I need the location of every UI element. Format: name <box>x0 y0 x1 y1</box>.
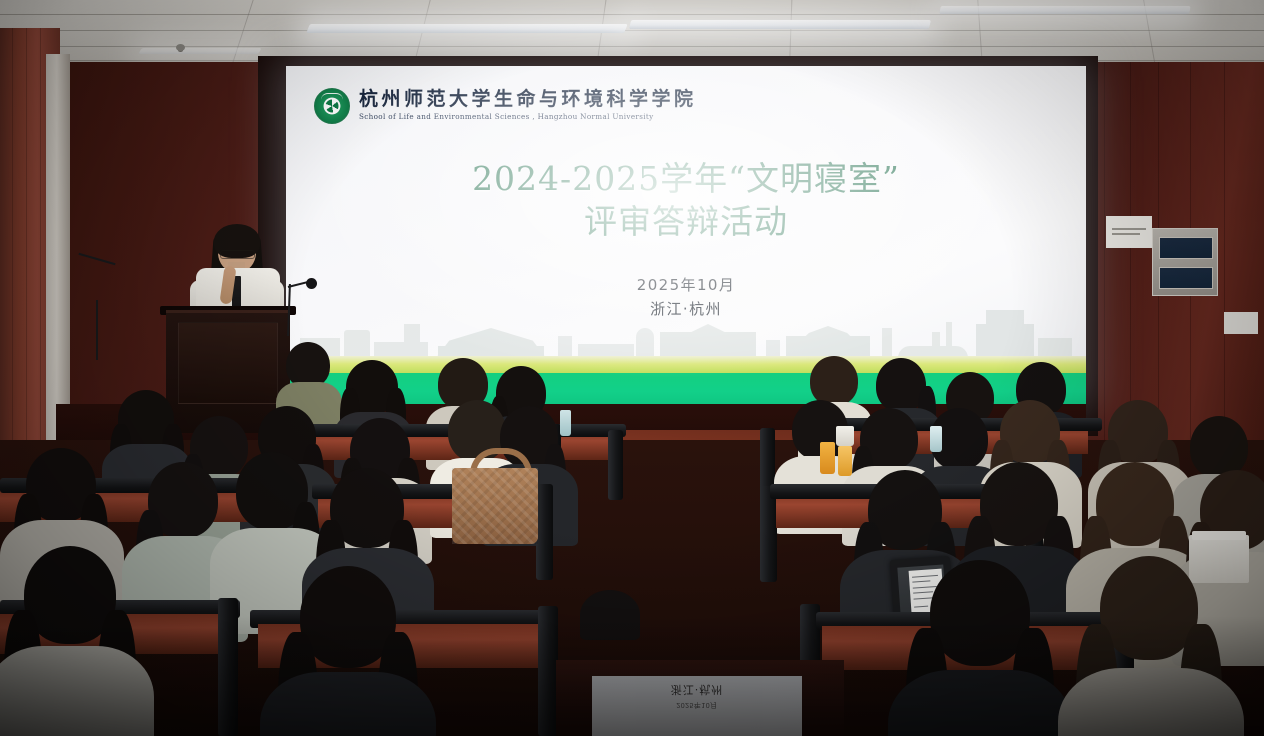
slide-reflection: 2025年10月 浙江·杭州 <box>592 676 802 736</box>
control-panel-slot[interactable] <box>1159 237 1213 259</box>
handbag <box>452 468 538 544</box>
slide-title-line2: 评审答辩活动 <box>286 201 1086 244</box>
bench-post <box>536 484 553 580</box>
juice-bottle <box>838 446 852 476</box>
slide-title: 2024-2025学年“文明寝室” 评审答辩活动 <box>286 158 1086 244</box>
tissue-box-lid <box>1192 531 1246 540</box>
water-bottle <box>560 410 571 436</box>
university-wordmark: 杭州师范大学生命与环境科学学院 School of Life and Envir… <box>359 90 697 122</box>
university-name-english: School of Life and Environmental Science… <box>359 112 697 122</box>
wall-sign-small <box>1224 312 1258 334</box>
wall-notice-sign <box>1106 216 1152 248</box>
slide-logo-header: 杭州师范大学生命与环境科学学院 School of Life and Envir… <box>314 88 697 124</box>
ceiling-light-fixture <box>939 6 1190 14</box>
water-bottle <box>930 426 942 452</box>
microphone-head-icon <box>306 278 317 289</box>
university-seal-icon <box>314 88 350 124</box>
projection-screen: 杭州师范大学生命与环境科学学院 School of Life and Envir… <box>286 66 1086 404</box>
ceiling-light-fixture <box>306 24 628 33</box>
slide-subtitle-date: 2025年10月 <box>637 276 735 294</box>
bench-post <box>760 486 777 582</box>
juice-bottle <box>820 442 835 474</box>
lecture-hall-photo: 杭州师范大学生命与环境科学学院 School of Life and Envir… <box>0 0 1264 736</box>
speaker-glasses <box>220 250 255 259</box>
reflection-date: 2025年10月 <box>592 700 802 710</box>
university-name-chinese: 杭州师范大学生命与环境科学学院 <box>359 90 697 110</box>
podium-front-panel <box>178 322 278 404</box>
smoke-detector-icon <box>176 44 185 51</box>
microphone-stand <box>96 300 98 360</box>
tissue-box <box>1189 535 1249 583</box>
control-panel-slot[interactable] <box>1159 267 1213 289</box>
reflection-location: 浙江·杭州 <box>592 682 802 698</box>
bench-post <box>608 430 623 500</box>
paper-cup <box>836 426 854 446</box>
ceiling-light-fixture <box>138 48 261 54</box>
skyline-silhouette <box>286 296 1086 358</box>
ceiling-light-fixture <box>629 20 931 29</box>
av-control-panel[interactable] <box>1152 228 1218 296</box>
bench-post <box>218 598 238 736</box>
slide-title-line1: 2024-2025学年“文明寝室” <box>472 159 900 198</box>
bench-post <box>538 606 558 736</box>
